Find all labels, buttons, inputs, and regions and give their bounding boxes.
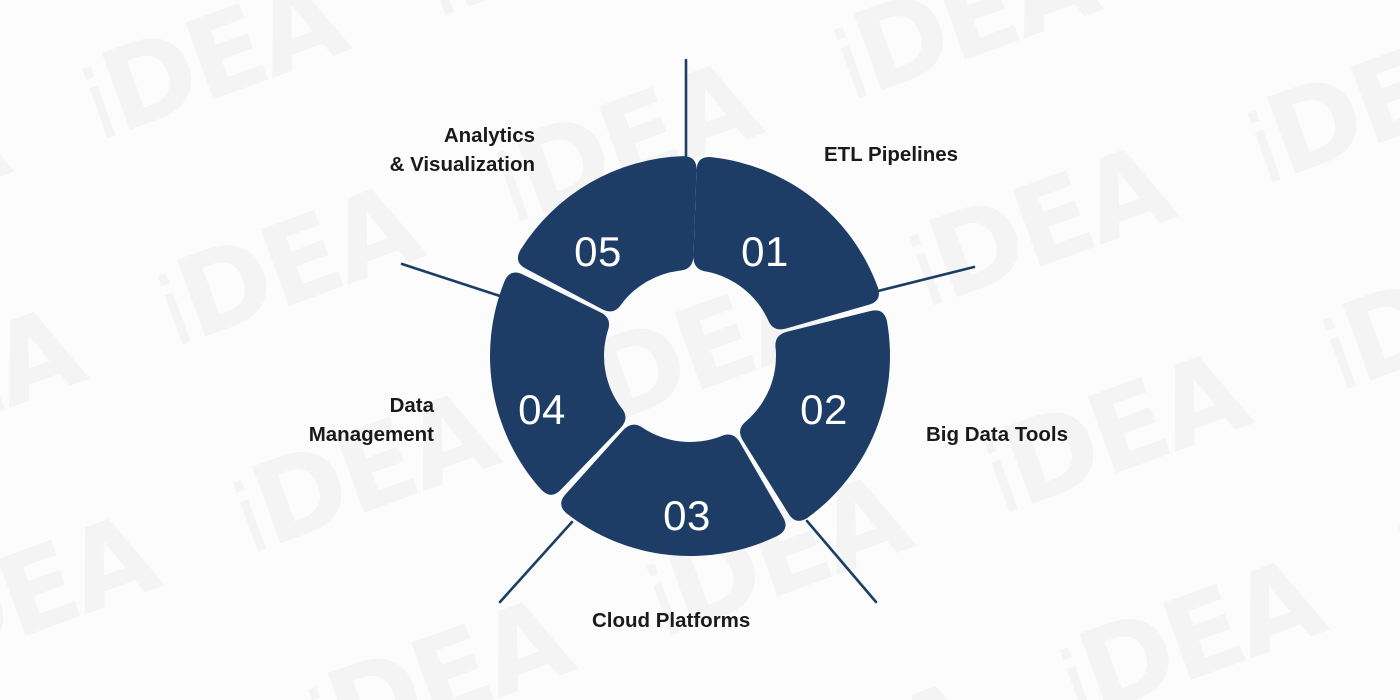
segment-number-04: 04 xyxy=(518,386,566,433)
diagram-canvas: iDEAiDEAiDEAiDEAiDEAiDEAiDEAiDEAiDEAiDEA… xyxy=(0,0,1400,700)
segment-label-data-management: Data Management xyxy=(188,391,434,449)
leader-line-02 xyxy=(874,267,974,292)
segment-number-01: 01 xyxy=(741,228,789,275)
cycle-donut-diagram: 0102030405 xyxy=(0,0,1400,700)
segment-number-03: 03 xyxy=(663,492,711,539)
segment-label-big-data-tools: Big Data Tools xyxy=(926,420,1068,449)
segment-label-cloud-platforms: Cloud Platforms xyxy=(592,606,750,635)
leader-line-04 xyxy=(500,522,572,602)
leader-line-05 xyxy=(402,264,503,297)
leader-line-03 xyxy=(807,521,876,602)
segment-number-02: 02 xyxy=(800,386,848,433)
segment-label-analytics-visualization: Analytics & Visualization xyxy=(290,121,535,179)
segment-label-etl-pipelines: ETL Pipelines xyxy=(824,140,958,169)
segment-number-05: 05 xyxy=(574,228,622,275)
